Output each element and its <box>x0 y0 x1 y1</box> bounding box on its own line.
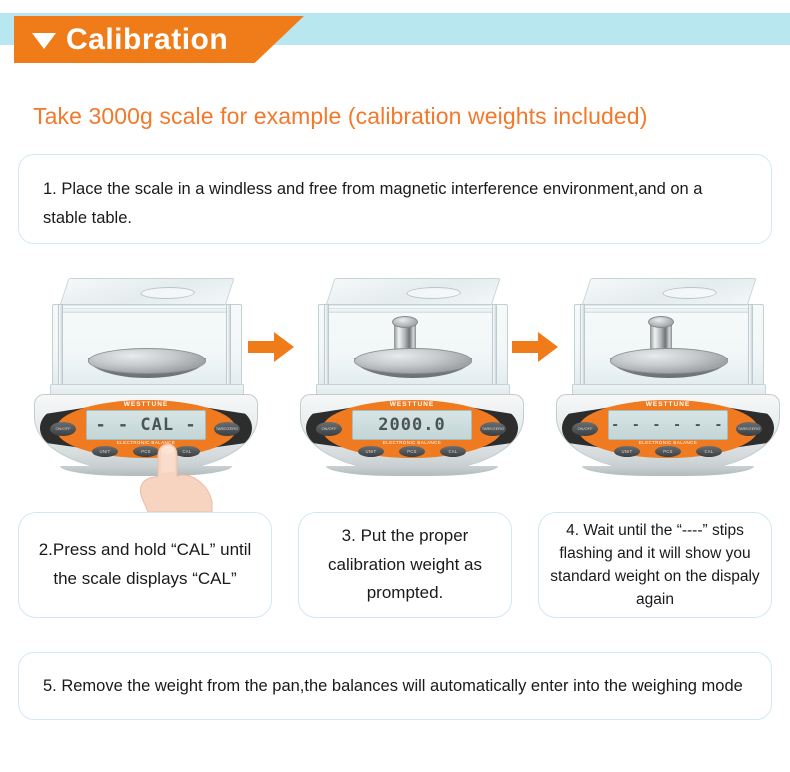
lcd-sub-label-1: ELECTRONIC BALANCE <box>86 440 206 445</box>
tare-button-2[interactable]: TARE/ZERO <box>480 422 506 436</box>
brand-label-3: WESTTUNE <box>632 401 704 408</box>
shield-handle-icon <box>405 287 463 299</box>
subtitle: Take 3000g scale for example (calibratio… <box>33 103 647 130</box>
cal-button-1[interactable]: CAL <box>174 446 200 457</box>
unit-button-3[interactable]: UNIT <box>614 446 640 457</box>
shield-handle-icon <box>661 287 719 299</box>
onoff-button-2[interactable]: ON/OFF <box>316 422 342 436</box>
lcd-sub-label-2: ELECTRONIC BALANCE <box>352 440 472 445</box>
step-3-text: 3. Put the proper calibration weight as … <box>307 522 503 608</box>
pcs-button-2[interactable]: PCS <box>399 446 425 457</box>
onoff-button-1[interactable]: ON/OFF <box>50 422 76 436</box>
weight-cap <box>648 316 674 328</box>
pan-top <box>610 348 728 374</box>
page-header: Calibration <box>0 0 790 78</box>
shield-top-panel <box>59 278 234 306</box>
unit-button-2[interactable]: UNIT <box>358 446 384 457</box>
lcd-display-2: 2000.0 <box>352 410 472 440</box>
tare-button-1[interactable]: TARE/ZERO <box>214 422 240 436</box>
brand-label-2: WESTTUNE <box>376 401 448 408</box>
step-5-box: 5. Remove the weight from the pan,the ba… <box>18 652 772 720</box>
scale-illustration-1: WESTTUNE - - CAL - ELECTRONIC BALANCE ON… <box>30 270 262 498</box>
shield-post-right <box>748 304 753 392</box>
step-2-text: 2.Press and hold “CAL” until the scale d… <box>27 536 263 593</box>
step-2-box: 2.Press and hold “CAL” until the scale d… <box>18 512 272 618</box>
shield-post-left <box>324 304 329 392</box>
lcd-value-1: - - CAL - <box>95 417 196 434</box>
shield-top-panel <box>581 278 756 306</box>
header-orange-banner: Calibration <box>14 16 304 63</box>
lcd-display-3: - - - - - - <box>608 410 728 440</box>
shield-post-left <box>580 304 585 392</box>
weighing-pan-3 <box>610 348 728 384</box>
scale-illustration-2: WESTTUNE 2000.0 ELECTRONIC BALANCE ON/OF… <box>296 270 528 498</box>
shield-post-right <box>226 304 231 392</box>
cal-button-2[interactable]: CAL <box>440 446 466 457</box>
lcd-value-2: 2000.0 <box>378 417 445 434</box>
scale-foot-2 <box>326 466 498 476</box>
step-1-box: 1. Place the scale in a windless and fre… <box>18 154 772 244</box>
scale-foot-3 <box>582 466 754 476</box>
shield-handle-icon <box>139 287 197 299</box>
shield-top-panel <box>325 278 500 306</box>
step-4-box: 4. Wait until the “----” stips flashing … <box>538 512 772 618</box>
step-4-text: 4. Wait until the “----” stips flashing … <box>547 519 763 612</box>
pcs-button-1[interactable]: PCS <box>133 446 159 457</box>
shield-post-left <box>58 304 63 392</box>
weighing-pan-2 <box>354 348 472 384</box>
lcd-display-1: - - CAL - <box>86 410 206 440</box>
lcd-sub-label-3: ELECTRONIC BALANCE <box>608 440 728 445</box>
onoff-button-3[interactable]: ON/OFF <box>572 422 598 436</box>
pcs-button-3[interactable]: PCS <box>655 446 681 457</box>
lcd-value-3: - - - - - - <box>611 419 725 432</box>
brand-label-1: WESTTUNE <box>110 401 182 408</box>
triangle-down-icon <box>32 33 56 49</box>
scale-foot-1 <box>60 466 232 476</box>
tare-button-3[interactable]: TARE/ZERO <box>736 422 762 436</box>
pan-top <box>88 348 206 374</box>
arrow-right-icon-1 <box>248 330 294 364</box>
step-1-text: 1. Place the scale in a windless and fre… <box>43 175 747 233</box>
unit-button-1[interactable]: UNIT <box>92 446 118 457</box>
pan-top <box>354 348 472 374</box>
step-5-text: 5. Remove the weight from the pan,the ba… <box>43 677 743 696</box>
weighing-pan-1 <box>88 348 206 384</box>
page-title: Calibration <box>66 25 228 55</box>
scale-illustration-3: WESTTUNE - - - - - - ELECTRONIC BALANCE … <box>552 270 784 498</box>
step-3-box: 3. Put the proper calibration weight as … <box>298 512 512 618</box>
weight-cap <box>392 316 418 328</box>
shield-post-right <box>492 304 497 392</box>
cal-button-3[interactable]: CAL <box>696 446 722 457</box>
